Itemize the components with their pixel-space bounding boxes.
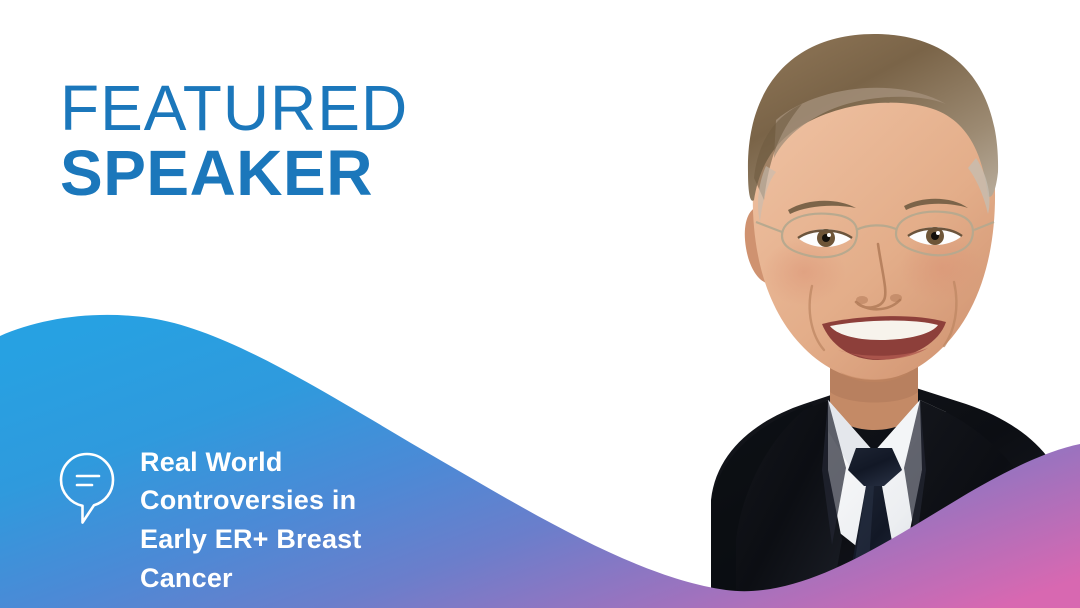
session-title-line-4: Cancer xyxy=(140,559,362,598)
session-title-line-1: Real World xyxy=(140,443,362,482)
speech-bubble-icon xyxy=(56,449,118,527)
session-title-text: Real World Controversies in Early ER+ Br… xyxy=(140,443,362,599)
speaker-photo xyxy=(616,0,1080,608)
session-title-line-2: Controversies in xyxy=(140,481,362,520)
headline-line-featured: FEATURED xyxy=(60,78,408,139)
headline-line-speaker: SPEAKER xyxy=(60,143,408,204)
session-title-line-3: Early ER+ Breast xyxy=(140,520,362,559)
session-title-block: Real World Controversies in Early ER+ Br… xyxy=(56,443,362,599)
headline: FEATURED SPEAKER xyxy=(60,78,408,205)
featured-speaker-banner: FEATURED SPEAKER xyxy=(0,0,1080,608)
